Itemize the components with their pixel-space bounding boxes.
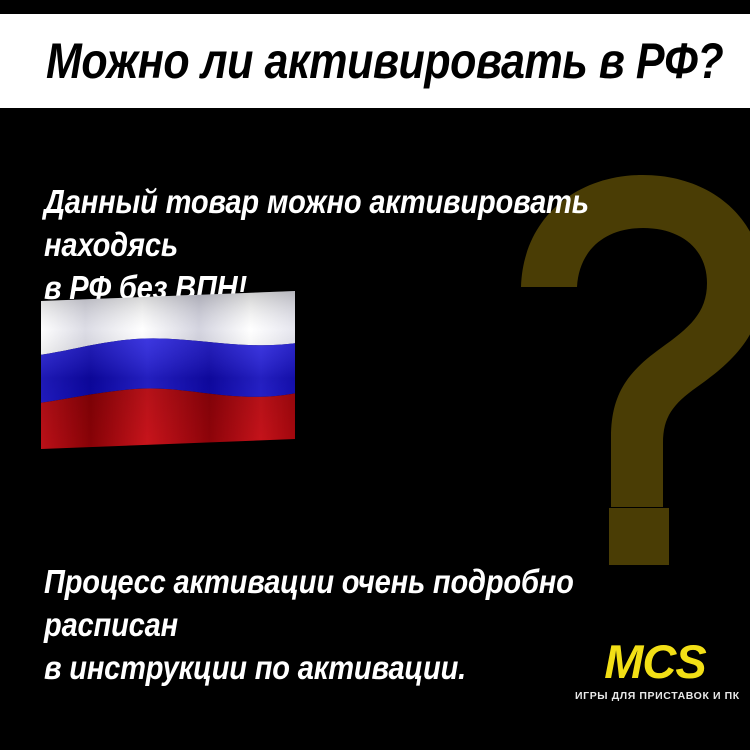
- brand-logo: MCS ИГРЫ ДЛЯ ПРИСТАВОК И ПК: [575, 638, 735, 716]
- brand-logo-mark: MCS: [575, 638, 735, 685]
- page-title: Можно ли активировать в РФ?: [46, 36, 750, 86]
- page-title-text: Можно ли активировать в РФ?: [46, 36, 723, 86]
- bottom-paragraph-text: Процесс активации очень подробно расписа…: [44, 561, 625, 690]
- brand-logo-tagline: ИГРЫ ДЛЯ ПРИСТАВОК И ПК: [575, 691, 735, 702]
- header-band: Можно ли активировать в РФ?: [0, 14, 750, 108]
- promo-banner: Можно ли активировать в РФ? Данный товар…: [0, 0, 750, 750]
- russian-flag: [39, 289, 297, 451]
